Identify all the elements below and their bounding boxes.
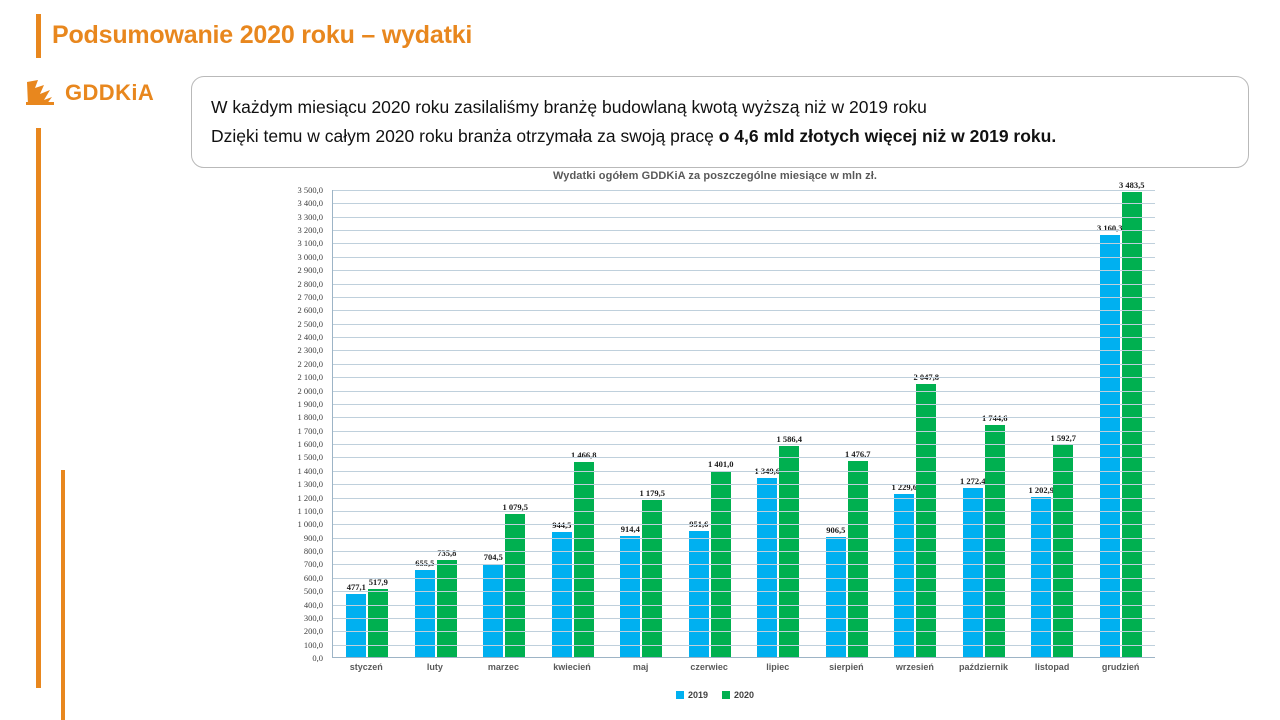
plot-area: 477,1517,9655,5735,8704,51 079,5944,51 4… <box>332 190 1155 658</box>
bar-value-label: 906,5 <box>826 525 845 535</box>
callout-line-2-text: Dzięki temu w całym 2020 roku branża otr… <box>211 126 719 146</box>
legend-item-2019[interactable]: 2019 <box>676 690 708 700</box>
bar-value-label: 1 592,7 <box>1051 433 1077 443</box>
bar-group: 1 272,41 744,6 <box>950 190 1019 658</box>
bar-group: 3 160,33 483,5 <box>1087 190 1156 658</box>
logo-text: GDDKiA <box>65 80 154 106</box>
x-axis-label-październik: październik <box>949 662 1018 682</box>
x-axis-label-styczeń: styczeń <box>332 662 401 682</box>
callout-line-2-highlight: o 4,6 mld złotych więcej niż w 2019 roku… <box>719 126 1056 146</box>
y-axis-tick: 1 100,0 <box>298 506 324 516</box>
bar-value-label: 735,8 <box>437 548 456 558</box>
bar-value-label: 704,5 <box>484 552 503 562</box>
bar-groups: 477,1517,9655,5735,8704,51 079,5944,51 4… <box>333 190 1155 658</box>
gridline <box>333 337 1155 338</box>
gridline <box>333 297 1155 298</box>
gridline <box>333 190 1155 191</box>
bar-group: 1 229,62 047,8 <box>881 190 950 658</box>
y-axis-tick: 3 200,0 <box>298 225 324 235</box>
bar-value-label: 1 229,6 <box>892 482 918 492</box>
plot-wrapper: 3 500,03 400,03 300,03 200,03 100,03 000… <box>275 190 1155 658</box>
bar-2020-sierpień[interactable]: 1 476,7 <box>848 461 868 658</box>
accent-bar-left <box>36 128 41 688</box>
gridline <box>333 578 1155 579</box>
bar-fill <box>574 462 594 658</box>
gridline <box>333 431 1155 432</box>
y-axis-tick: 2 100,0 <box>298 372 324 382</box>
gridline <box>333 591 1155 592</box>
gridline <box>333 243 1155 244</box>
y-axis-tick: 600,0 <box>304 573 323 583</box>
gridline <box>333 538 1155 539</box>
bar-value-label: 1 401,0 <box>708 459 734 469</box>
gridline <box>333 391 1155 392</box>
y-axis-tick: 1 700,0 <box>298 426 324 436</box>
gridline <box>333 484 1155 485</box>
legend-item-2020[interactable]: 2020 <box>722 690 754 700</box>
bar-group: 704,51 079,5 <box>470 190 539 658</box>
bar-2019-wrzesień[interactable]: 1 229,6 <box>894 494 914 658</box>
y-axis-tick: 2 200,0 <box>298 359 324 369</box>
y-axis-tick: 400,0 <box>304 600 323 610</box>
gddkia-logo: GDDKiA <box>24 78 154 108</box>
x-axis: styczeńlutymarzeckwiecieńmajczerwieclipi… <box>332 662 1155 682</box>
bar-2020-luty[interactable]: 735,8 <box>437 560 457 658</box>
x-axis-label-czerwiec: czerwiec <box>675 662 744 682</box>
bar-2019-maj[interactable]: 914,4 <box>620 536 640 658</box>
gridline <box>333 284 1155 285</box>
legend-swatch <box>676 691 684 699</box>
page-title: Podsumowanie 2020 roku – wydatki <box>52 21 472 50</box>
y-axis-tick: 200,0 <box>304 626 323 636</box>
gridline <box>333 524 1155 525</box>
y-axis-tick: 0,0 <box>312 653 323 663</box>
bar-2020-styczeń[interactable]: 517,9 <box>368 589 388 658</box>
gridline <box>333 324 1155 325</box>
y-axis-tick: 1 800,0 <box>298 412 324 422</box>
y-axis-tick: 900,0 <box>304 533 323 543</box>
y-axis-tick: 3 300,0 <box>298 212 324 222</box>
gridline <box>333 471 1155 472</box>
gridline <box>333 217 1155 218</box>
bar-fill <box>848 461 868 658</box>
x-axis-label-maj: maj <box>606 662 675 682</box>
bar-value-label: 655,5 <box>415 558 434 568</box>
y-axis-tick: 2 900,0 <box>298 265 324 275</box>
bar-fill <box>505 514 525 658</box>
bar-group: 1 349,61 586,4 <box>744 190 813 658</box>
bar-group: 477,1517,9 <box>333 190 402 658</box>
y-axis-tick: 3 000,0 <box>298 252 324 262</box>
bar-2020-grudzień[interactable]: 3 483,5 <box>1122 192 1142 658</box>
gridline <box>333 511 1155 512</box>
x-axis-label-lipiec: lipiec <box>743 662 812 682</box>
chart-title: Wydatki ogółem GDDKiA za poszczególne mi… <box>275 170 1155 182</box>
gridline <box>333 270 1155 271</box>
bar-2019-sierpień[interactable]: 906,5 <box>826 537 846 658</box>
callout-line-1-text: W każdym miesiącu 2020 roku zasilaliśmy … <box>211 97 927 117</box>
bar-2020-październik[interactable]: 1 744,6 <box>985 425 1005 658</box>
gridline <box>333 605 1155 606</box>
bar-value-label: 1 586,4 <box>777 434 803 444</box>
gridline <box>333 551 1155 552</box>
chart-legend: 20192020 <box>275 690 1155 700</box>
y-axis-tick: 500,0 <box>304 586 323 596</box>
legend-swatch <box>722 691 730 699</box>
bar-2019-październik[interactable]: 1 272,4 <box>963 488 983 658</box>
callout-line-1: W każdym miesiącu 2020 roku zasilaliśmy … <box>211 93 1248 122</box>
y-axis-tick: 1 600,0 <box>298 439 324 449</box>
bar-2019-czerwiec[interactable]: 951,6 <box>689 531 709 658</box>
bar-group: 914,41 179,5 <box>607 190 676 658</box>
bar-group: 655,5735,8 <box>402 190 471 658</box>
y-axis-tick: 2 700,0 <box>298 292 324 302</box>
bar-fill <box>689 531 709 658</box>
gridline <box>333 377 1155 378</box>
gridline <box>333 417 1155 418</box>
gridline <box>333 230 1155 231</box>
y-axis-tick: 1 900,0 <box>298 399 324 409</box>
gridline <box>333 350 1155 351</box>
gridline <box>333 498 1155 499</box>
callout-line-2: Dzięki temu w całym 2020 roku branża otr… <box>211 122 1248 151</box>
accent-bar-top <box>36 14 41 58</box>
y-axis-tick: 300,0 <box>304 613 323 623</box>
y-axis-tick: 2 400,0 <box>298 332 324 342</box>
bar-2019-grudzień[interactable]: 3 160,3 <box>1100 235 1120 658</box>
gridline <box>333 645 1155 646</box>
x-axis-label-listopad: listopad <box>1018 662 1087 682</box>
y-axis-tick: 2 600,0 <box>298 305 324 315</box>
bar-fill <box>963 488 983 658</box>
y-axis-tick: 3 500,0 <box>298 185 324 195</box>
legend-label: 2019 <box>688 690 708 700</box>
bar-fill <box>985 425 1005 658</box>
bar-fill <box>1100 235 1120 658</box>
legend-label: 2020 <box>734 690 754 700</box>
bar-fill <box>437 560 457 658</box>
x-axis-label-grudzień: grudzień <box>1086 662 1155 682</box>
bar-group: 1 202,91 592,7 <box>1018 190 1087 658</box>
gridline <box>333 404 1155 405</box>
gridline <box>333 631 1155 632</box>
y-axis-tick: 1 000,0 <box>298 519 324 529</box>
bar-group: 951,61 401,0 <box>676 190 745 658</box>
x-axis-label-sierpień: sierpień <box>812 662 881 682</box>
y-axis-tick: 2 000,0 <box>298 386 324 396</box>
bar-value-label: 1 202,9 <box>1029 485 1055 495</box>
bar-fill <box>620 536 640 658</box>
gridline <box>333 310 1155 311</box>
y-axis-tick: 2 500,0 <box>298 319 324 329</box>
bar-fill <box>826 537 846 658</box>
bar-fill <box>894 494 914 658</box>
y-axis-tick: 700,0 <box>304 559 323 569</box>
y-axis-tick: 1 200,0 <box>298 493 324 503</box>
bar-group: 944,51 466,8 <box>539 190 608 658</box>
y-axis-tick: 1 500,0 <box>298 452 324 462</box>
y-axis: 3 500,03 400,03 300,03 200,03 100,03 000… <box>275 190 327 658</box>
y-axis-tick: 2 300,0 <box>298 345 324 355</box>
x-axis-label-luty: luty <box>401 662 470 682</box>
y-axis-tick: 800,0 <box>304 546 323 556</box>
gridline <box>333 364 1155 365</box>
y-axis-tick: 100,0 <box>304 640 323 650</box>
gridline <box>333 618 1155 619</box>
y-axis-tick: 2 800,0 <box>298 279 324 289</box>
callout-box: W każdym miesiącu 2020 roku zasilaliśmy … <box>191 76 1249 168</box>
accent-bar-left-secondary <box>61 470 65 720</box>
bar-value-label: 3 483,5 <box>1119 180 1145 190</box>
gridline <box>333 444 1155 445</box>
bar-group: 906,51 476,7 <box>813 190 882 658</box>
bar-value-label: 3 160,3 <box>1097 223 1123 233</box>
bar-2020-kwiecień[interactable]: 1 466,8 <box>574 462 594 658</box>
eagle-icon <box>24 78 58 108</box>
slide: Podsumowanie 2020 roku – wydatki GDDKiA … <box>0 0 1280 720</box>
y-axis-tick: 1 300,0 <box>298 479 324 489</box>
gridline <box>333 457 1155 458</box>
bar-fill <box>1122 192 1142 658</box>
y-axis-tick: 1 400,0 <box>298 466 324 476</box>
gridline <box>333 203 1155 204</box>
bar-2020-marzec[interactable]: 1 079,5 <box>505 514 525 658</box>
bar-fill <box>368 589 388 658</box>
gridline <box>333 657 1155 658</box>
y-axis-tick: 3 400,0 <box>298 198 324 208</box>
x-axis-label-marzec: marzec <box>469 662 538 682</box>
x-axis-label-wrzesień: wrzesień <box>881 662 950 682</box>
y-axis-tick: 3 100,0 <box>298 238 324 248</box>
expenses-chart: Wydatki ogółem GDDKiA za poszczególne mi… <box>275 170 1155 720</box>
gridline <box>333 564 1155 565</box>
x-axis-label-kwiecień: kwiecień <box>538 662 607 682</box>
gridline <box>333 257 1155 258</box>
